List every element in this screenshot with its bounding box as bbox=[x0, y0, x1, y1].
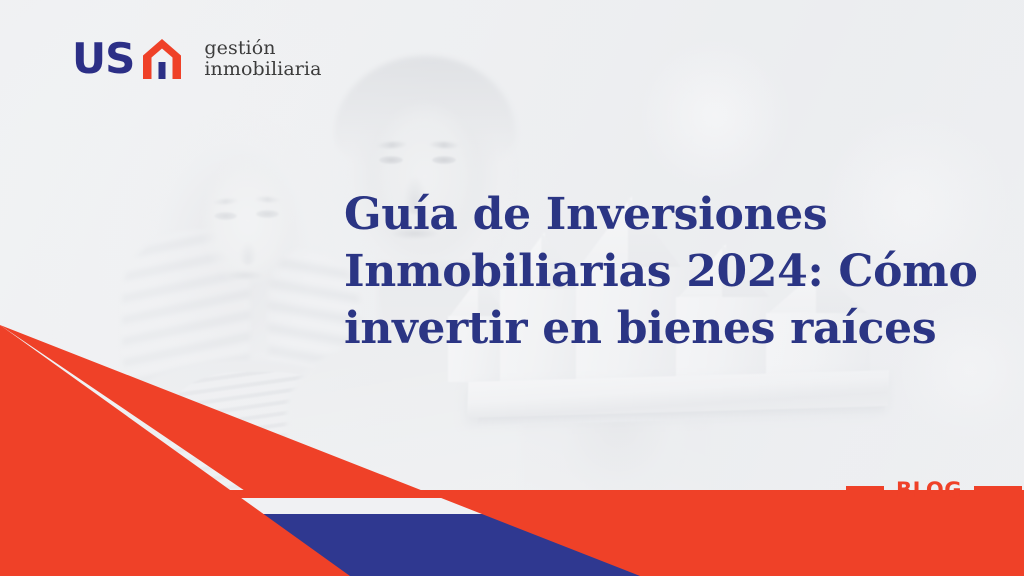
badge-rule-left-icon bbox=[846, 486, 884, 495]
status-badge: BLOG bbox=[846, 478, 1022, 502]
brand-logo[interactable]: US gestión inmobiliaria bbox=[72, 38, 322, 81]
logo-tagline: gestión inmobiliaria bbox=[204, 38, 321, 81]
logo-wordmark: US bbox=[72, 38, 134, 80]
house-icon bbox=[142, 38, 182, 80]
page-title: Guía de Inversiones Inmobiliarias 2024: … bbox=[344, 186, 1004, 358]
blog-cover-banner: Guía de Inversiones Inmobiliarias 2024: … bbox=[0, 0, 1024, 576]
logo-tagline-line2: inmobiliaria bbox=[204, 59, 321, 80]
badge-rule-right-icon bbox=[974, 486, 1022, 495]
logo-tagline-line1: gestión bbox=[204, 38, 321, 59]
badge-label: BLOG bbox=[896, 478, 962, 502]
